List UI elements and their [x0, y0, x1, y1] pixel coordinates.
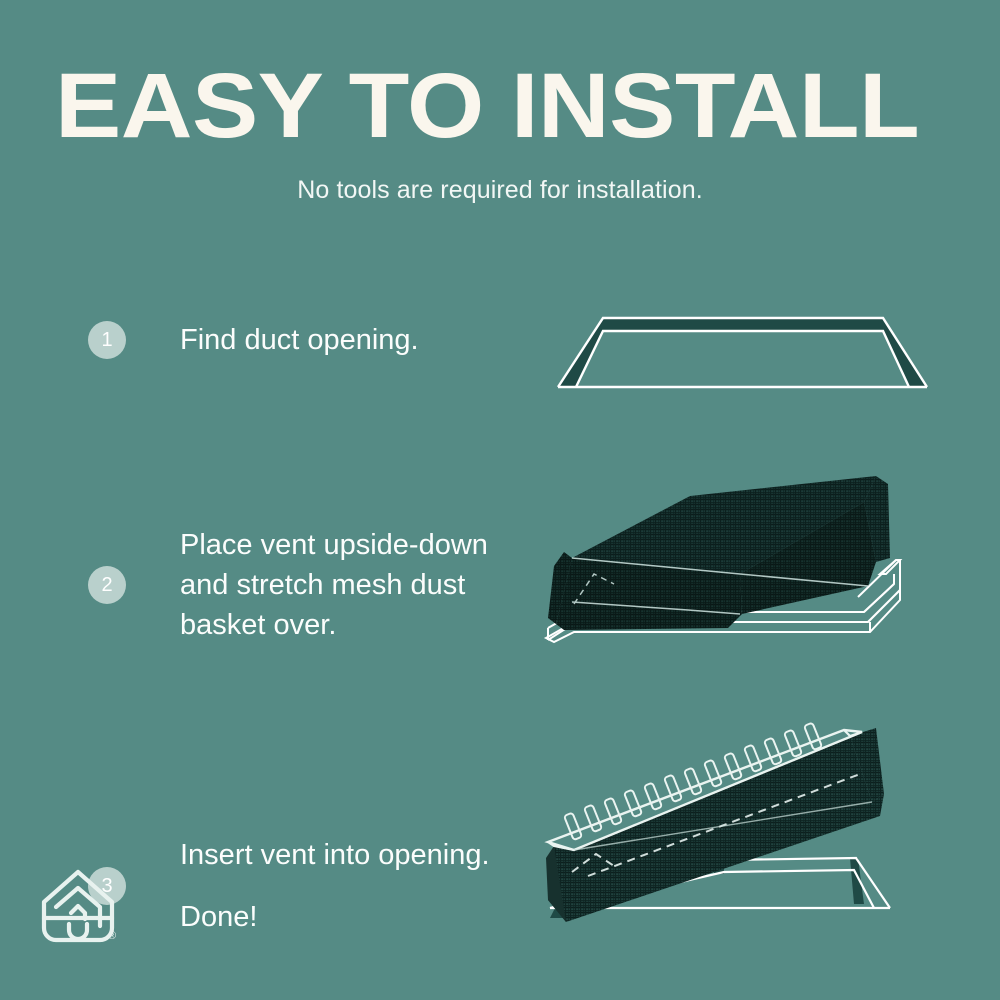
illustration-vent-with-mesh-basket: [528, 462, 958, 662]
registered-trademark-mark: ®: [108, 930, 116, 942]
page-title: EASY TO INSTALL: [55, 60, 1000, 152]
step-2-badge: 2: [88, 566, 126, 604]
step-3-line-2: Done!: [180, 897, 490, 937]
step-2-label: Place vent upside-down and stretch mesh …: [180, 525, 488, 645]
step-3-line-1: Insert vent into opening.: [180, 839, 490, 871]
step-1-badge: 1: [88, 321, 126, 359]
step-1-label: Find duct opening.: [180, 320, 419, 360]
page-subtitle: No tools are required for installation.: [0, 176, 1000, 205]
step-3-label: Insert vent into opening. Done!: [180, 795, 490, 977]
step-3: 3 Insert vent into opening. Done!: [88, 795, 490, 977]
step-1: 1 Find duct opening.: [88, 320, 419, 360]
home-brand-logo: [38, 866, 118, 952]
illustration-vent-inserted-into-opening: [528, 690, 958, 940]
step-2: 2 Place vent upside-down and stretch mes…: [88, 525, 488, 645]
illustration-duct-opening: [532, 290, 952, 400]
infographic-canvas: EASY TO INSTALL No tools are required fo…: [0, 0, 1000, 1000]
